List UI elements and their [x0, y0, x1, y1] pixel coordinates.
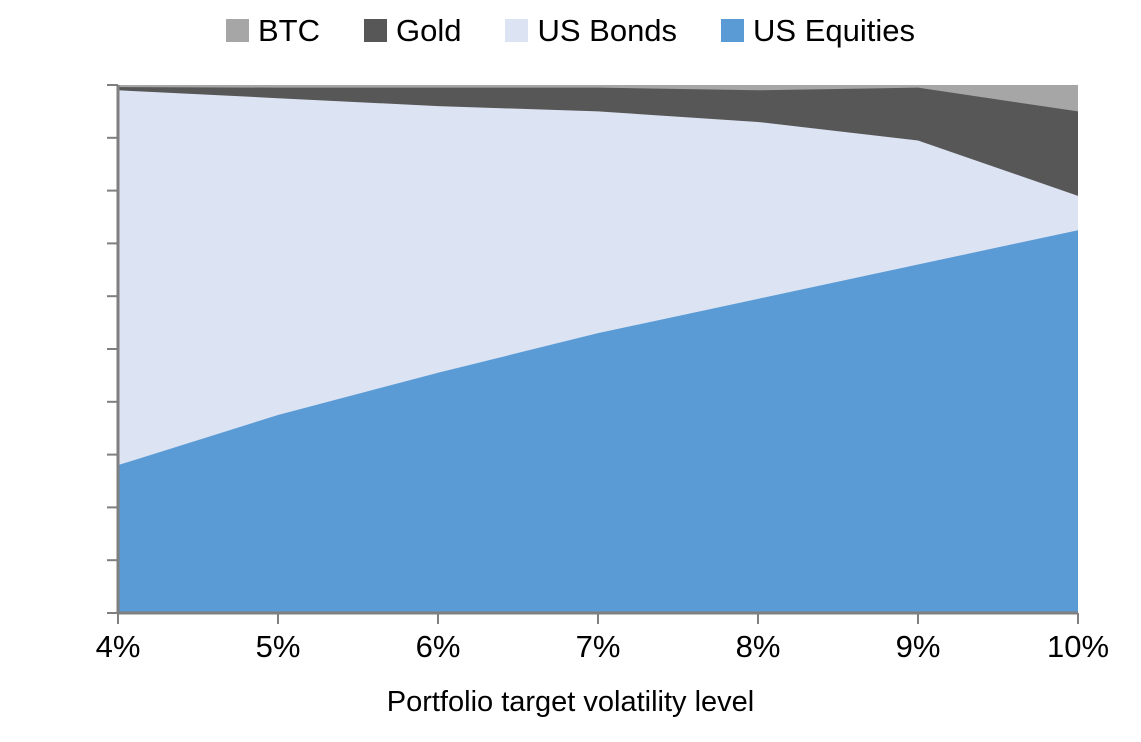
x-axis-label: 6%: [348, 631, 528, 662]
x-axis-label: 8%: [668, 631, 848, 662]
chart-container: BTC Gold US Bonds US Equities 100% 90% 8…: [0, 0, 1141, 742]
x-axis-label: 10%: [988, 631, 1141, 662]
x-axis-label: 7%: [508, 631, 688, 662]
x-axis-label: 9%: [828, 631, 1008, 662]
x-axis-label: 5%: [188, 631, 368, 662]
x-axis-label: 4%: [28, 631, 208, 662]
x-axis-title: Portfolio target volatility level: [0, 688, 1141, 717]
